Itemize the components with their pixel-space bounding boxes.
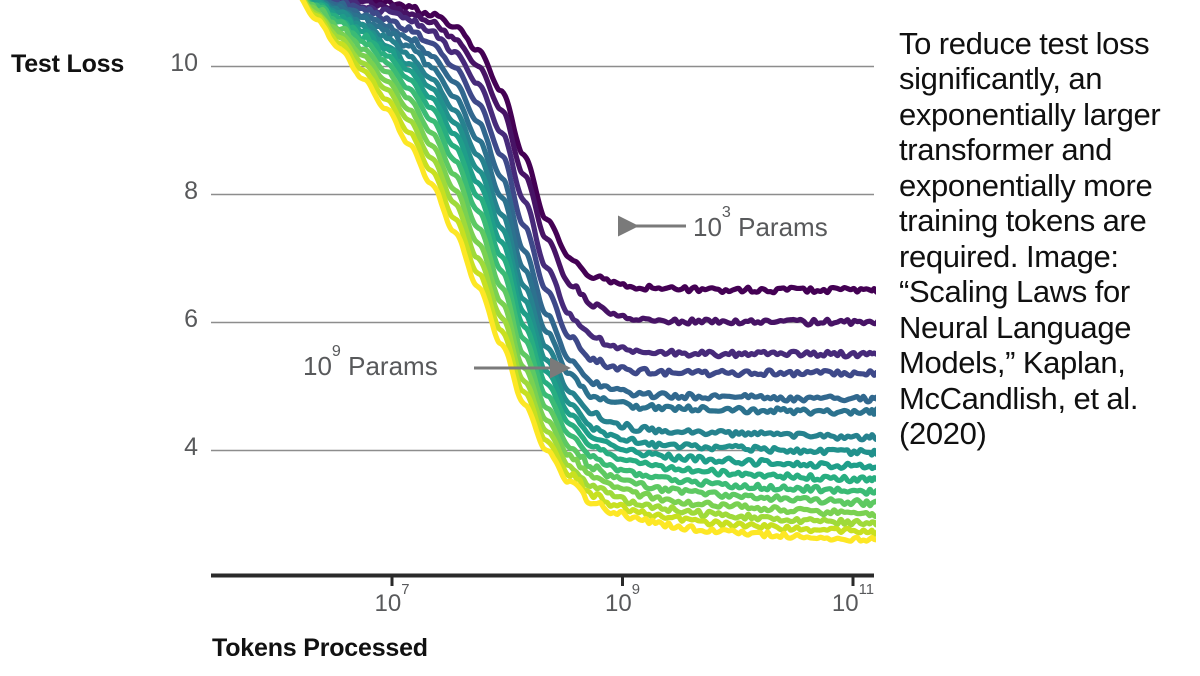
x-tick-label: 1011 [808, 590, 898, 618]
annotation-large-model-label: 109 Params [303, 351, 438, 382]
scaling-laws-plot [0, 0, 886, 676]
y-axis-title: Test Loss [11, 50, 124, 79]
training-curve [294, 0, 886, 517]
y-tick-label: 8 [152, 177, 198, 206]
training-curve [294, 0, 886, 495]
x-tick-label: 109 [578, 590, 668, 618]
y-tick-label: 4 [152, 433, 198, 462]
annotation-small-model-label: 103 Params [693, 212, 828, 243]
figure-caption: To reduce test loss significantly, an ex… [899, 26, 1191, 452]
chart-panel: Test Loss Tokens Processed 10864 1071091… [0, 0, 886, 676]
x-tick-label: 107 [347, 590, 437, 618]
y-tick-label: 6 [152, 305, 198, 334]
curve-group [294, 0, 886, 541]
x-axis-title: Tokens Processed [212, 634, 428, 663]
figure-root: Test Loss Tokens Processed 10864 1071091… [0, 0, 1200, 676]
y-tick-label: 10 [152, 49, 198, 78]
